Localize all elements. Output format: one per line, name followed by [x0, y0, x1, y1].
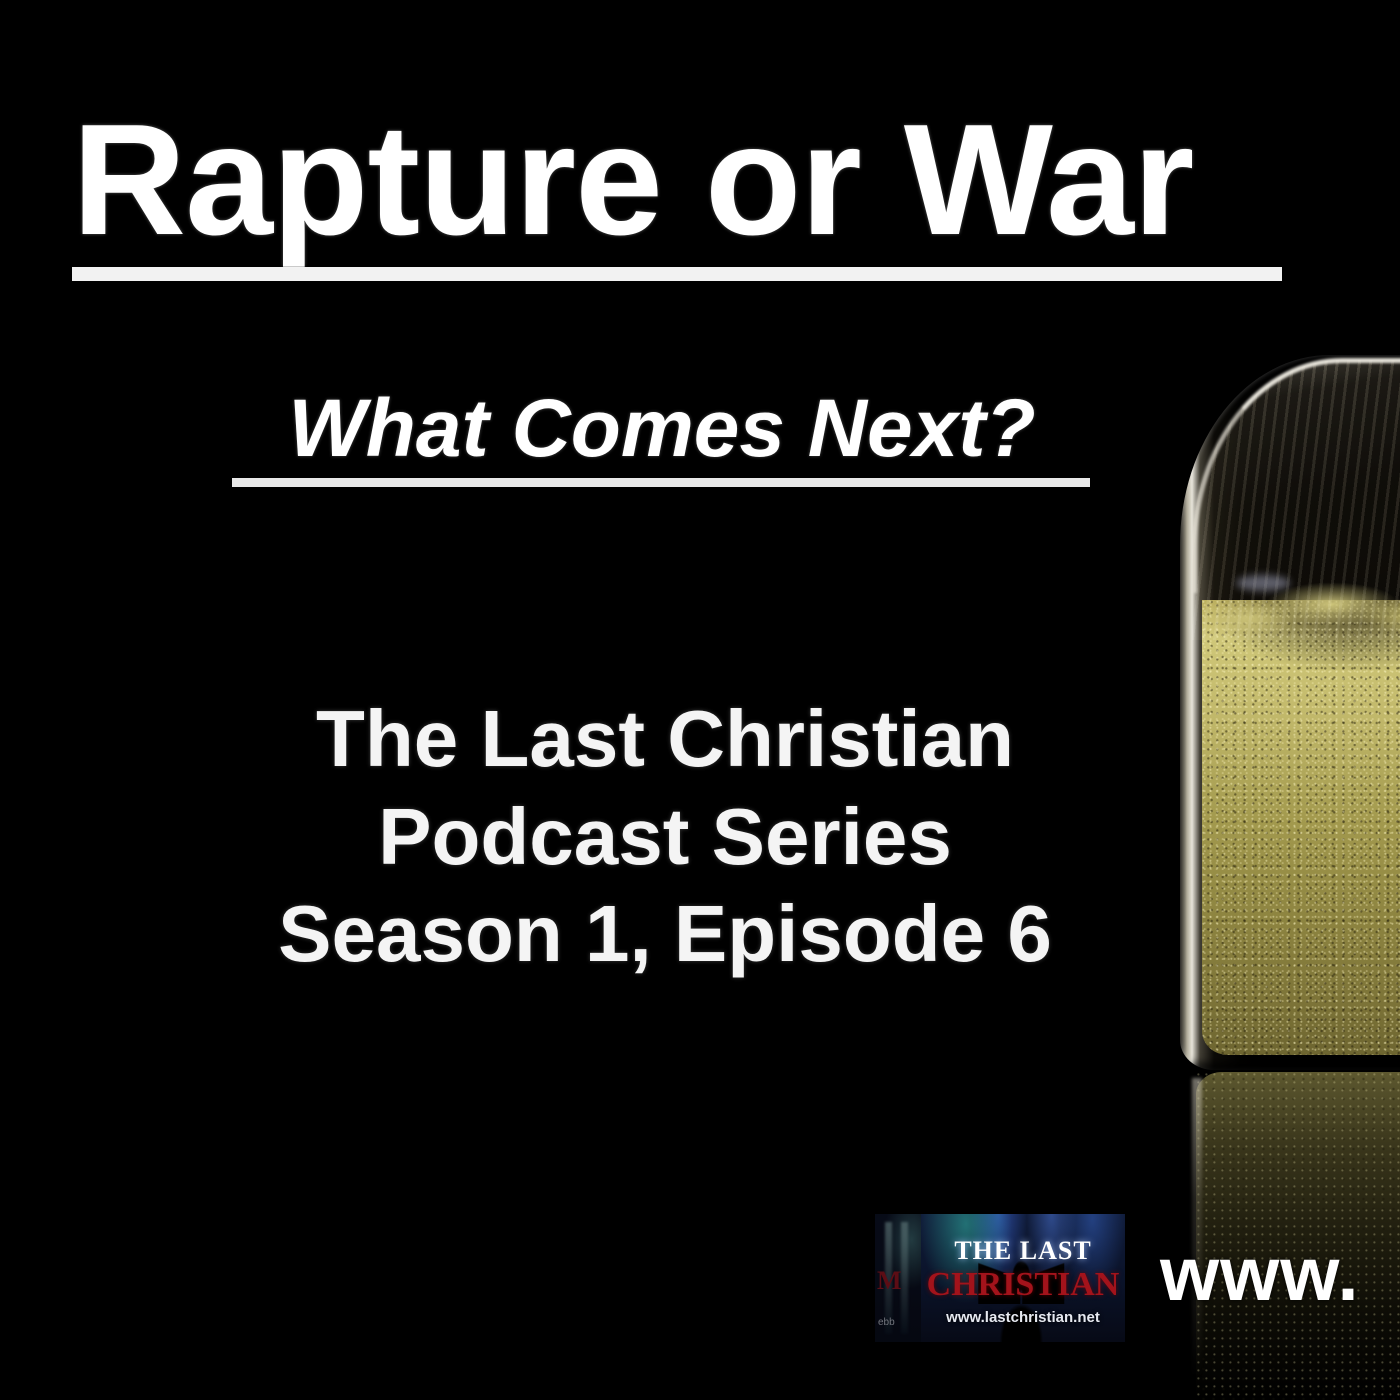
jar-seed-surface	[1202, 568, 1400, 638]
logo-ghost-duplicate: M ebb	[875, 1214, 927, 1342]
website-watermark: www.	[1160, 1237, 1360, 1313]
logo-christian-text: CHRISTIAN	[921, 1266, 1125, 1304]
series-type-line: Podcast Series	[180, 788, 1150, 886]
series-info-block: The Last Christian Podcast Series Season…	[180, 690, 1150, 983]
last-christian-logo-badge: M ebb THE LAST CHRISTIAN www.lastchristi…	[875, 1214, 1125, 1342]
subtitle-underline-rule	[232, 478, 1090, 487]
jar-inner-glint	[1236, 575, 1290, 591]
jar-glass-body	[1180, 355, 1400, 1070]
page-subtitle: What Comes Next?	[232, 386, 1092, 472]
jar-glass-shoulder	[1192, 360, 1400, 640]
logo-stage-background: THE LAST CHRISTIAN www.lastchristian.net	[921, 1214, 1125, 1342]
series-name-line: The Last Christian	[180, 690, 1150, 788]
season-episode-line: Season 1, Episode 6	[180, 885, 1150, 983]
ghost-url-text: ebb	[878, 1317, 895, 1328]
jar-reflection-edge-highlight	[1192, 1078, 1202, 1378]
logo-the-last-text: THE LAST	[921, 1236, 1125, 1266]
page-title: Rapture or War	[72, 100, 1284, 261]
title-block: Rapture or War	[72, 100, 1284, 281]
ghost-christian-text: M	[877, 1266, 901, 1296]
subtitle-block: What Comes Next?	[232, 386, 1092, 487]
ghost-light-beam-right	[901, 1222, 908, 1334]
podcast-cover-art: Rapture or War What Comes Next? The Last…	[0, 0, 1400, 1400]
logo-website-url: www.lastchristian.net	[921, 1309, 1125, 1326]
title-underline-rule	[72, 267, 1282, 281]
jar-base-shadow	[1192, 1058, 1400, 1080]
jar-seed-fill	[1202, 600, 1400, 1055]
jar-rim-highlight	[1192, 358, 1400, 593]
